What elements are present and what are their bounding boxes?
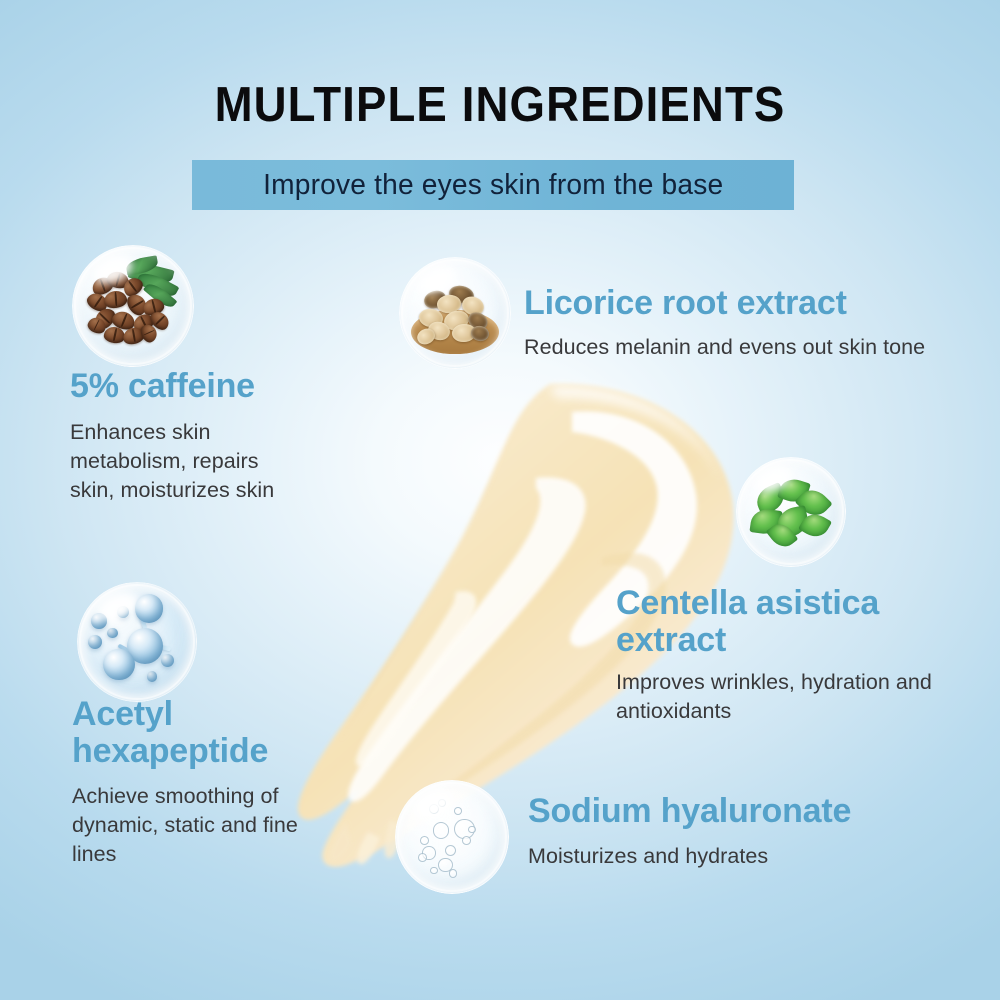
ingredient-licorice-title: Licorice root extract — [524, 285, 924, 322]
subtitle-text: Improve the eyes skin from the base — [263, 169, 723, 202]
ingredient-centella-title: Centella asistica extract — [616, 585, 946, 659]
ingredient-sodium-title: Sodium hyaluronate — [528, 793, 928, 830]
subtitle-banner: Improve the eyes skin from the base — [192, 160, 794, 210]
molecule-bubble-icon — [77, 582, 197, 702]
coffee-beans-bubble-icon — [72, 245, 194, 367]
ingredients-infographic: MULTIPLE INGREDIENTS Improve the eyes sk… — [0, 0, 1000, 1000]
ingredient-acetyl-title: Acetyl hexapeptide — [72, 696, 322, 770]
centella-leaves-bubble-icon — [736, 457, 846, 567]
ingredient-centella-description: Improves wrinkles, hydration and antioxi… — [616, 668, 936, 726]
ingredient-caffeine-title: 5% caffeine — [70, 368, 330, 405]
ingredient-caffeine-description: Enhances skin metabolism, repairs skin, … — [70, 418, 306, 505]
ingredient-sodium-description: Moisturizes and hydrates — [528, 842, 928, 871]
ingredient-acetyl-description: Achieve smoothing of dynamic, static and… — [72, 782, 302, 869]
licorice-root-bubble-icon — [399, 257, 511, 369]
gel-droplets-bubble-icon — [395, 780, 509, 894]
ingredient-licorice-description: Reduces melanin and evens out skin tone — [524, 333, 974, 362]
page-title: MULTIPLE INGREDIENTS — [35, 77, 965, 133]
